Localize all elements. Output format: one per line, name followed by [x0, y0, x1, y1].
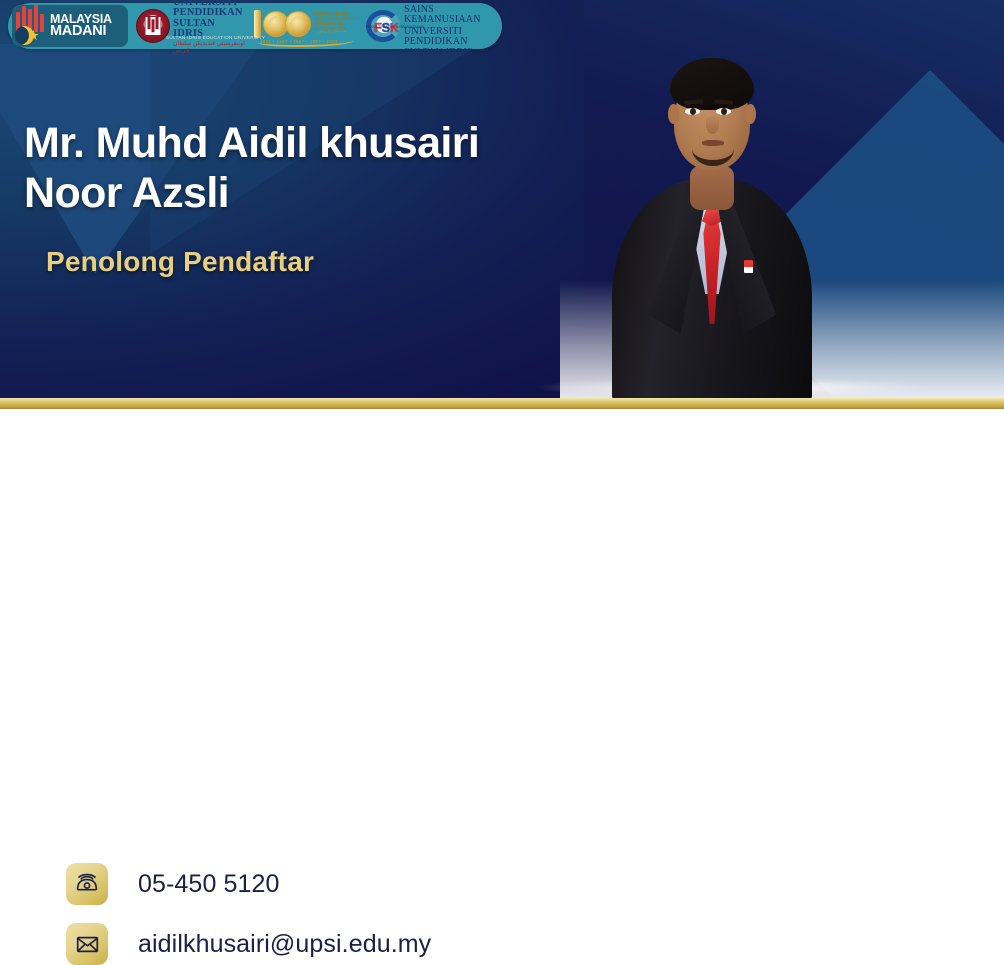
- person-name-line2: Noor Azsli: [24, 169, 229, 217]
- fsk-logo: FSK FAKULTI SAINS KEMANUSIAAN FAKULTI SA…: [366, 4, 492, 48]
- fsk-vertical-text: FAKULTI SAINS KEMANUSIAAN: [366, 25, 424, 29]
- malaysia-madani-logo: MALAYSIA MADANI: [12, 4, 130, 48]
- malaysia-madani-line2: MADANI: [50, 25, 112, 38]
- portrait-eye-left: [685, 108, 700, 115]
- contact-section: 05-450 5120 aidilkhusairi@upsi.edu.my: [0, 409, 1004, 590]
- malaysia-madani-mark-icon: [14, 7, 48, 45]
- fsk-subtitle: UNIVERSITI PENDIDIKAN SULTAN IDRIS: [404, 27, 492, 59]
- upsi-crest-icon: [136, 9, 170, 43]
- profile-banner: MALAYSIA MADANI UNIVERSITI PENDIDIKAN SU…: [0, 0, 1004, 400]
- upsi-line2: PENDIDIKAN: [173, 8, 248, 19]
- upsi-subtitle: SULTAN IDRIS EDUCATION UNIVERSITY: [166, 35, 265, 40]
- malaysia-madani-badge: MALAYSIA MADANI: [12, 5, 128, 47]
- fsk-line3: KEMANUSIAAN: [404, 15, 492, 26]
- upsi-centenary-logo: PERAYAAN 100 TAHUN UNIVERSITI PENDIDIKAN…: [252, 4, 360, 48]
- centenary-jawi-text: سلطان ادريس: [318, 28, 346, 34]
- portrait-flag-pin: [744, 260, 753, 273]
- contact-row-email[interactable]: aidilkhusairi@upsi.edu.my: [66, 923, 431, 965]
- contact-row-phone[interactable]: 05-450 5120: [66, 863, 280, 905]
- portrait-eye-right: [716, 108, 731, 115]
- contact-email-value: aidilkhusairi@upsi.edu.my: [138, 930, 431, 959]
- portrait-mouth: [702, 140, 724, 146]
- portrait-ear-left: [668, 104, 679, 124]
- telephone-icon: [66, 863, 108, 905]
- person-portrait: [596, 28, 826, 400]
- portrait-beard: [692, 132, 734, 166]
- centenary-digit-zero-second: [285, 11, 311, 37]
- centenary-years: 1922 • 1957 • 1987 • 1997 • 2022: [260, 39, 338, 44]
- centenary-digit-one: [254, 10, 261, 38]
- upsi-jawi-text: اونيڤرسيتي فنديديکن سلطان ادريس: [173, 41, 248, 55]
- upsi-logo: UNIVERSITI PENDIDIKAN SULTAN IDRIS اونيڤ…: [136, 4, 248, 48]
- portrait-hair: [670, 58, 754, 110]
- envelope-icon: [66, 923, 108, 965]
- gold-divider: [0, 398, 1004, 409]
- portrait-ear-right: [745, 104, 756, 124]
- contact-phone-value: 05-450 5120: [138, 870, 280, 899]
- person-name: Mr. Muhd Aidil khusairiNoor Azsli: [24, 118, 479, 218]
- portrait-neck: [690, 166, 734, 210]
- person-position-title: Penolong Pendaftar: [46, 246, 314, 278]
- person-name-line1: Mr. Muhd Aidil khusairi: [24, 119, 479, 167]
- logo-bar: MALAYSIA MADANI UNIVERSITI PENDIDIKAN SU…: [8, 3, 502, 49]
